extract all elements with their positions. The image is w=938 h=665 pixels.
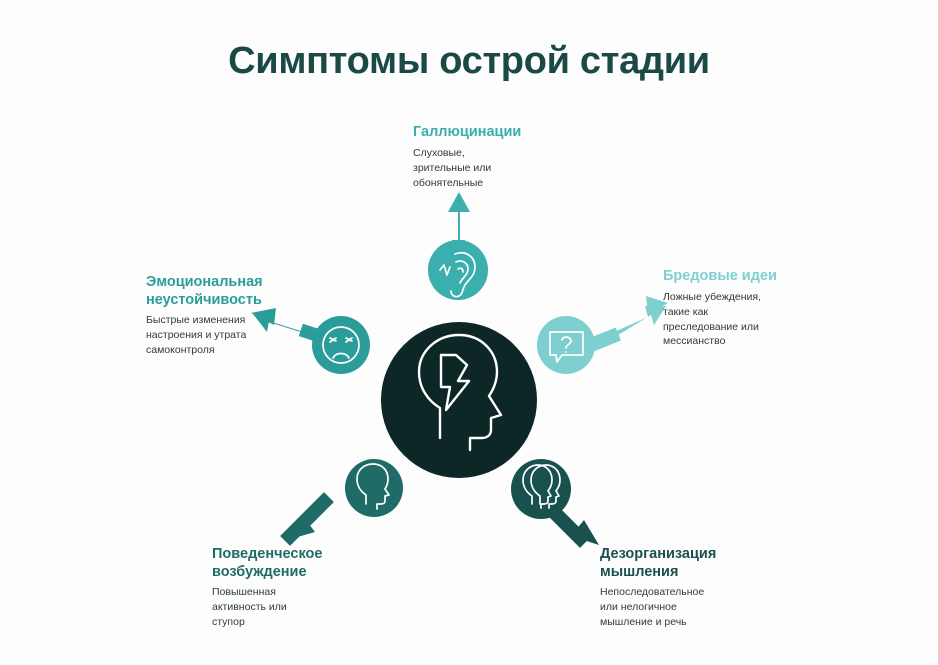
arrow-behavioral	[280, 492, 334, 546]
heading-emotional: Эмоциональная неустойчивость	[146, 274, 331, 309]
infographic-canvas: Симптомы острой стадии	[0, 0, 938, 665]
node-delusions[interactable]	[537, 316, 595, 374]
circle-hallucinations[interactable]	[428, 240, 488, 300]
node-behavioral[interactable]	[345, 442, 403, 517]
center-node	[381, 322, 537, 478]
circle-delusions[interactable]	[537, 316, 595, 374]
desc-emotional: Быстрые изменения настроения и утрата са…	[146, 313, 331, 358]
desc-behavioral: Повышенная активность или ступор	[212, 585, 412, 630]
label-disorganization: Дезорганизация мышления Непоследовательн…	[600, 546, 805, 630]
circle-disorganization[interactable]	[511, 459, 571, 519]
heading-delusions: Бредовые идеи	[663, 268, 853, 286]
desc-hallucinations: Слуховые, зрительные или обонятельные	[413, 146, 593, 191]
heading-behavioral: Поведенческое возбуждение	[212, 546, 412, 581]
node-disorganization[interactable]	[511, 459, 571, 519]
desc-disorganization: Непоследовательное или нелогичное мышлен…	[600, 585, 805, 630]
label-emotional: Эмоциональная неустойчивость Быстрые изм…	[146, 274, 331, 358]
label-hallucinations: Галлюцинации Слуховые, зрительные или об…	[413, 124, 593, 190]
center-circle	[381, 322, 537, 478]
label-delusions: Бредовые идеи Ложные убеждения, такие ка…	[663, 268, 853, 349]
circle-behavioral[interactable]	[345, 459, 403, 517]
desc-delusions: Ложные убеждения, такие как преследовани…	[663, 290, 853, 350]
label-behavioral: Поведенческое возбуждение Повышенная акт…	[212, 546, 412, 630]
heading-disorganization: Дезорганизация мышления	[600, 546, 805, 581]
heading-hallucinations: Галлюцинации	[413, 124, 593, 142]
node-hallucinations[interactable]	[428, 240, 488, 300]
